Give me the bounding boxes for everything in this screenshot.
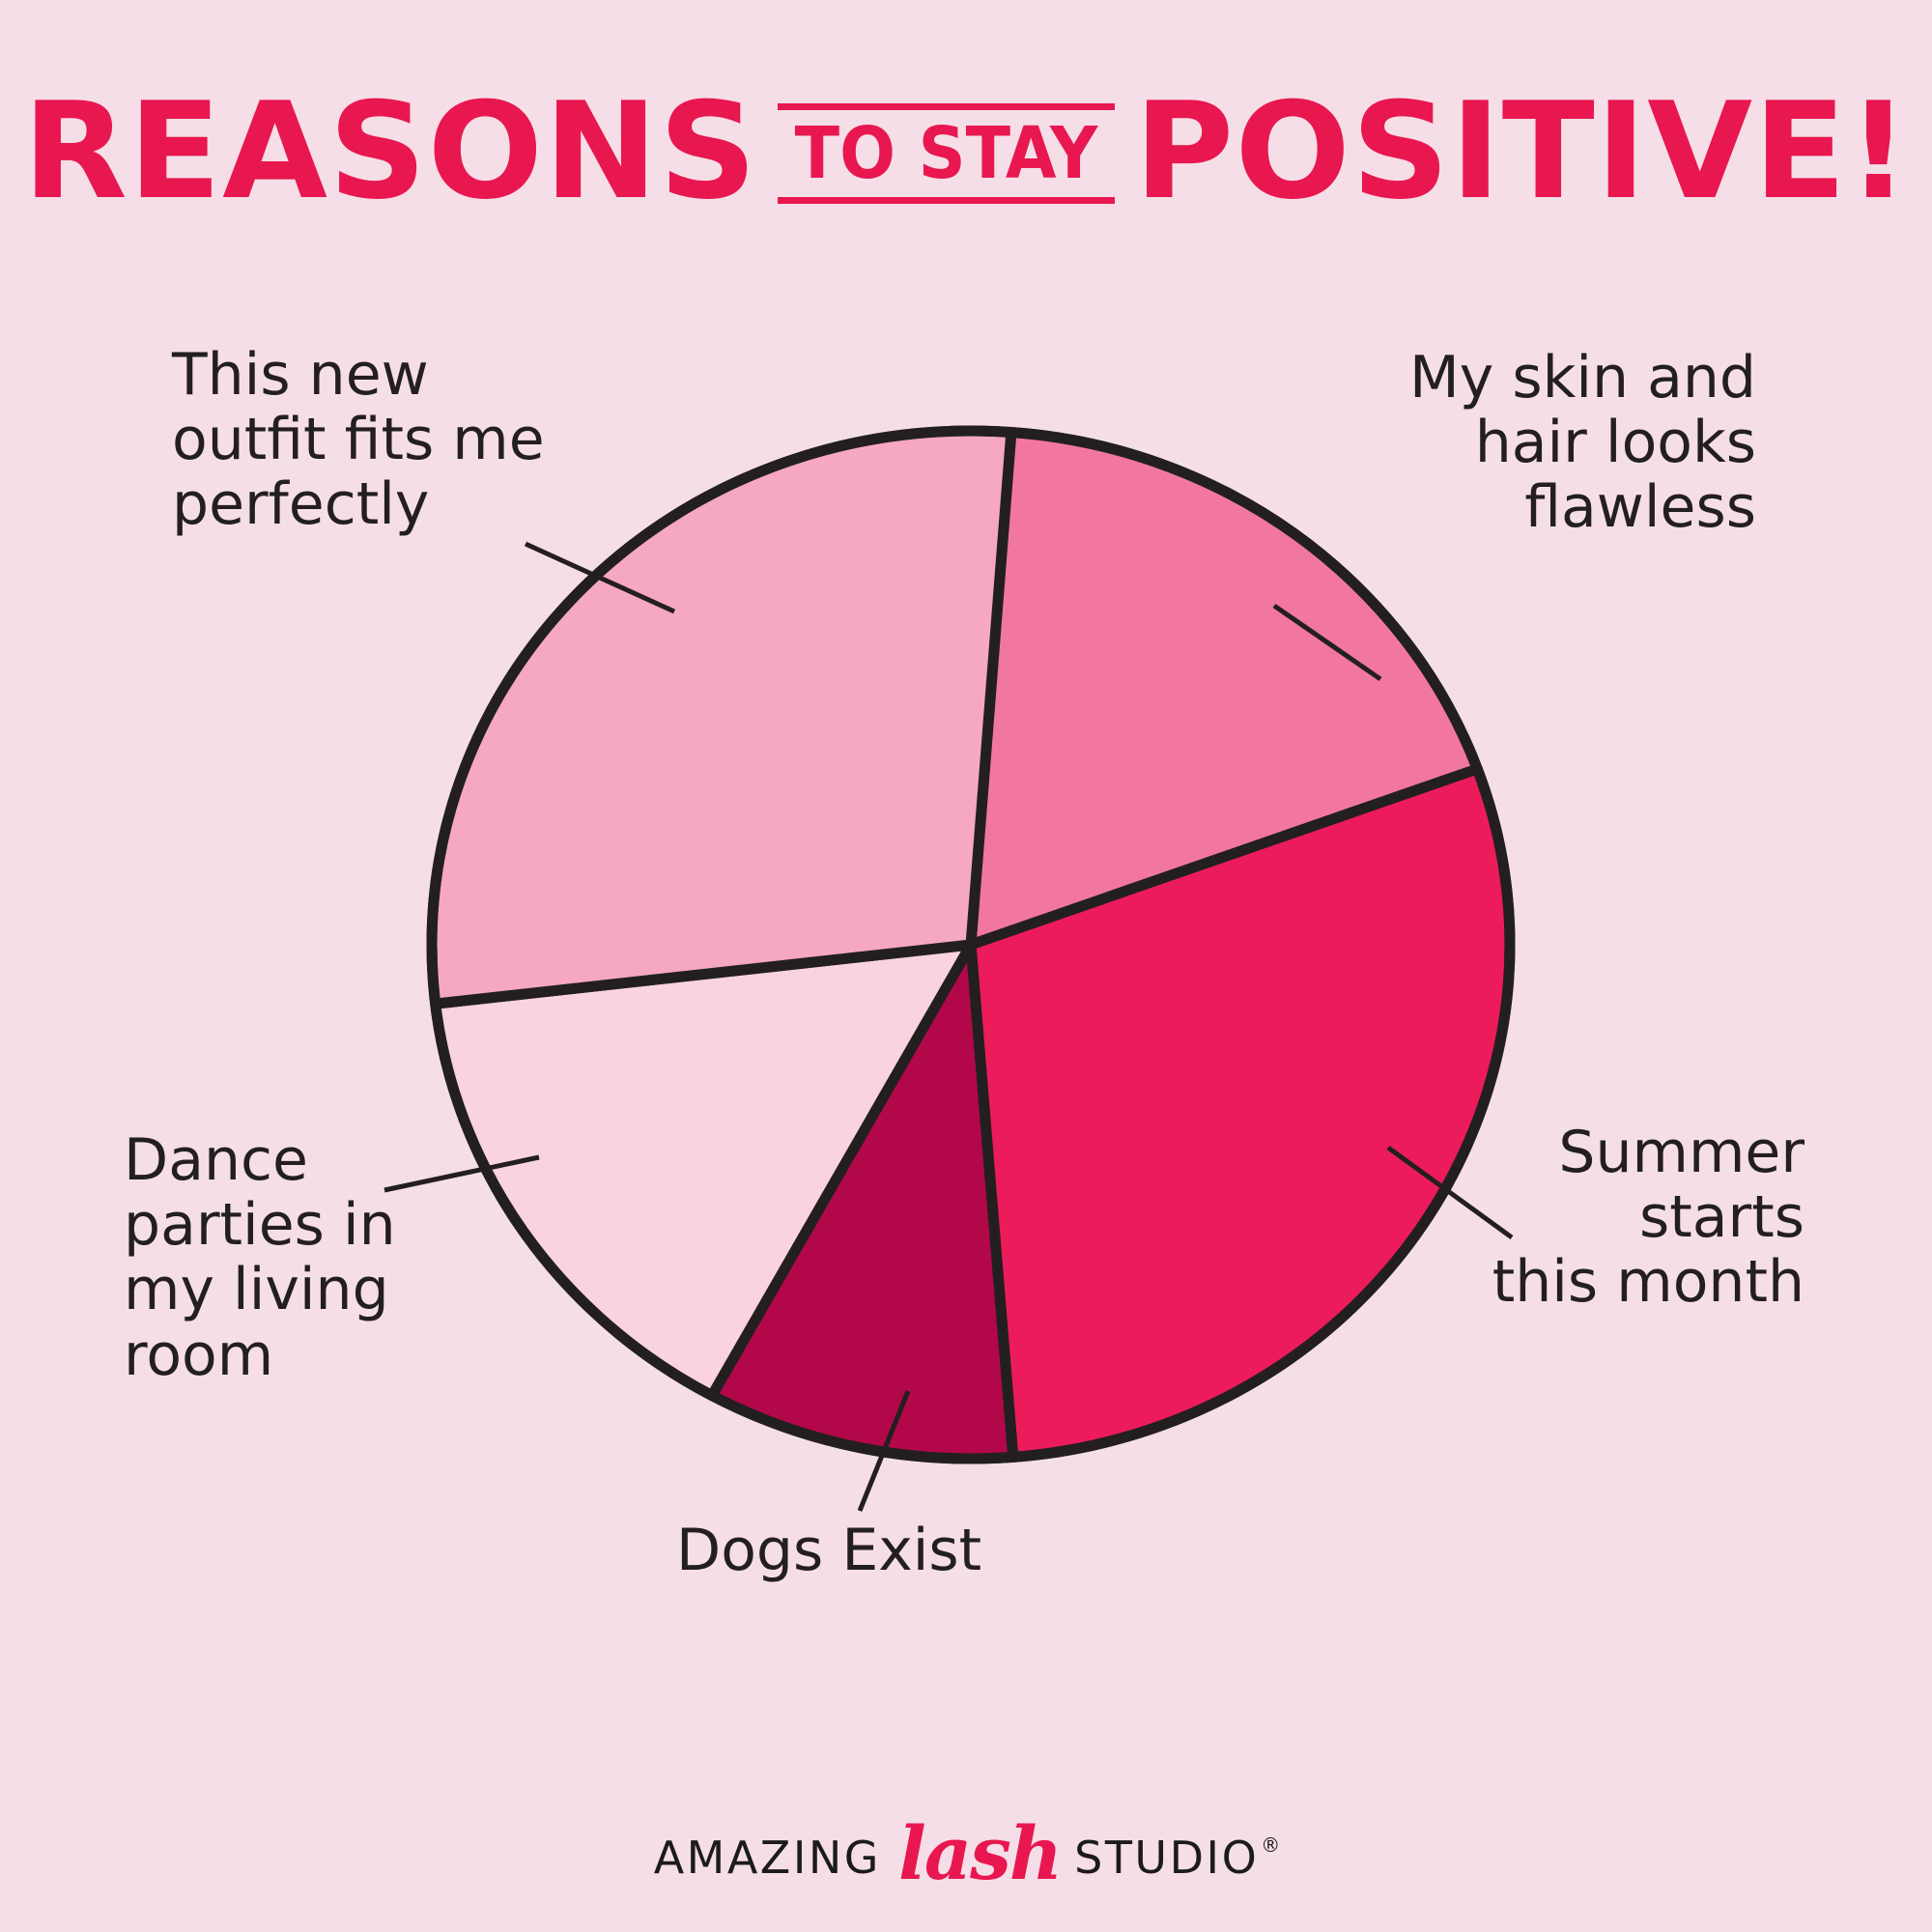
pie-slice-dance-parties[interactable] [436,945,971,1396]
leader-line-skin-hair [1274,606,1380,679]
logo-word-amazing: AMAZING [654,1832,881,1884]
pie-label-summer: Summer starts this month [1428,1121,1804,1316]
page-title: REASONS TO STAY POSITIVE! [0,85,1932,218]
leader-line-dogs-exist [860,1391,908,1511]
pie-outline [432,431,1510,1459]
pie-label-dance-parties: Dance parties in my living room [124,1128,442,1388]
pie-label-skin-hair: My skin and hair looks flawless [1302,346,1756,541]
logo-word-studio: STUDIO [1074,1832,1259,1884]
pie-chart [0,0,1932,1932]
pie-chart-svg [0,0,1932,1932]
brand-logo: AMAZING lash STUDIO ® [0,1804,1932,1890]
pie-leader-lines-group [384,544,1512,1511]
poster-root: REASONS TO STAY POSITIVE! This new outfi… [0,0,1932,1932]
title-middle-group: TO STAY [776,103,1117,203]
title-rule-top [778,103,1115,110]
title-word-positive: POSITIVE! [1134,85,1910,218]
title-rule-bottom [778,197,1115,204]
logo-script-lash: lash [898,1810,1061,1896]
pie-slice-dogs-exist[interactable] [712,945,1013,1459]
title-word-reasons: REASONS [22,85,757,218]
pie-label-dogs-exist: Dogs Exist [676,1519,1082,1583]
logo-registered-mark: ® [1261,1833,1280,1857]
pie-slices-group [432,431,1510,1459]
pie-label-new-outfit: This new outfit fits me perfectly [172,343,626,538]
leader-line-new-outfit [526,544,674,611]
title-word-to-stay: TO STAY [791,110,1101,196]
pie-slice-summer[interactable] [971,769,1510,1457]
